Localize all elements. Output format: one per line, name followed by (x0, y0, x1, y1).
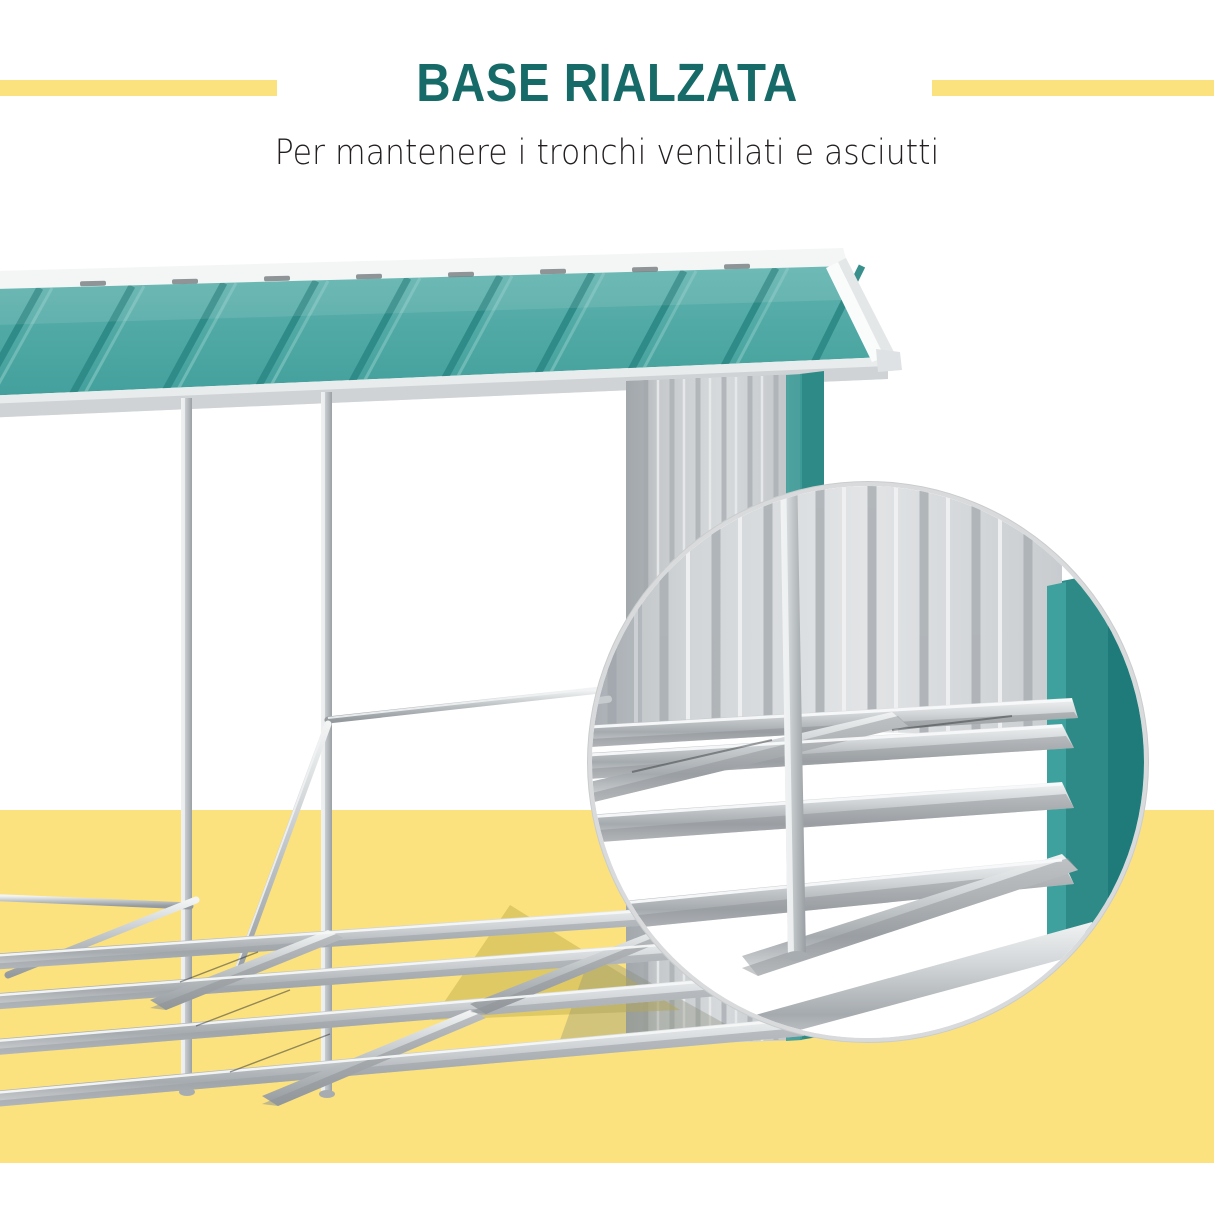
page-title: BASE RIALZATA (73, 52, 1141, 114)
promo-image: BASE RIALZATA Per mantenere i tronchi ve… (0, 0, 1214, 1214)
header: BASE RIALZATA Per mantenere i tronchi ve… (0, 0, 1214, 200)
detail-magnifier-circle (588, 482, 1148, 1042)
page-subtitle: Per mantenere i tronchi ventilati e asci… (61, 133, 1154, 173)
